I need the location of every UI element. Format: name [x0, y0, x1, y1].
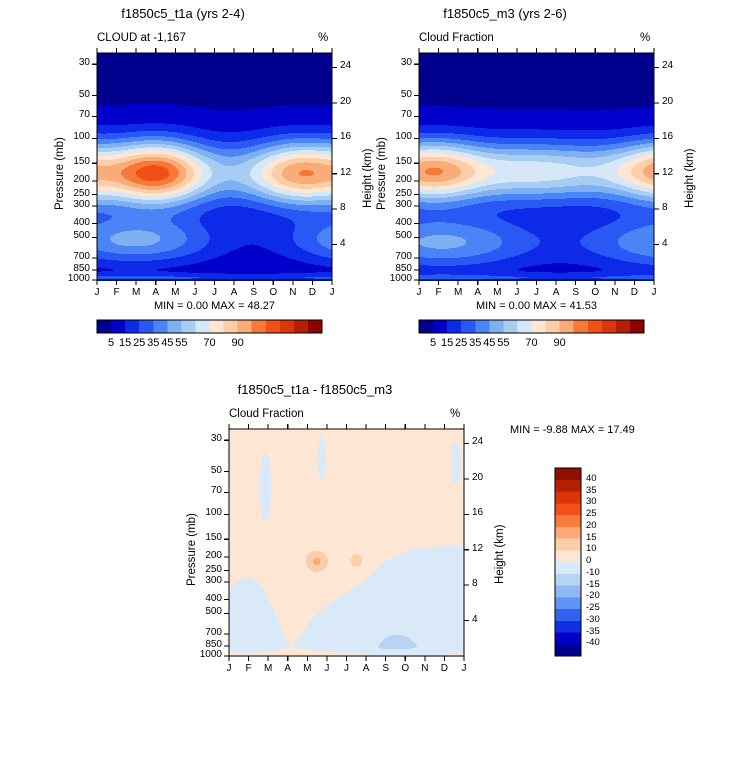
- month-tick-label: D: [434, 663, 454, 674]
- colorbar-tick-label: 55: [488, 337, 518, 349]
- diff-colorbar-tick-label: -35: [586, 626, 600, 637]
- month-tick-label: A: [356, 663, 376, 674]
- diff-colorbar-tick-label: 20: [586, 520, 597, 531]
- month-tick-label: F: [107, 287, 127, 298]
- diff-colorbar-tick-label: -25: [586, 602, 600, 613]
- month-tick-label: J: [409, 287, 429, 298]
- pressure-tick-label: 300: [367, 199, 412, 210]
- month-tick-label: J: [507, 287, 527, 298]
- pressure-tick-label: 1000: [45, 273, 90, 284]
- month-tick-label: S: [244, 287, 264, 298]
- pressure-tick-label: 100: [45, 131, 90, 142]
- height-tick-label: 24: [662, 60, 673, 71]
- colorbar-tick-label: 90: [545, 337, 575, 349]
- panel-m3: f1850c5_m3 (yrs 2-6) Cloud Fraction % Pr…: [322, 0, 688, 366]
- pressure-tick-label: 400: [177, 593, 222, 604]
- month-tick-label: M: [487, 287, 507, 298]
- month-tick-label: J: [527, 287, 547, 298]
- pressure-tick-label: 150: [367, 156, 412, 167]
- height-tick-label: 8: [472, 578, 478, 589]
- month-tick-label: M: [258, 663, 278, 674]
- pressure-tick-label: 300: [177, 575, 222, 586]
- colorbar-tick-label: 70: [517, 337, 547, 349]
- diff-colorbar-tick-label: 40: [586, 473, 597, 484]
- month-tick-label: N: [283, 287, 303, 298]
- height-tick-label: 24: [472, 436, 483, 447]
- pressure-tick-label: 300: [45, 199, 90, 210]
- month-tick-label: J: [205, 287, 225, 298]
- pressure-tick-label: 50: [367, 89, 412, 100]
- diff-colorbar-tick-label: 15: [586, 532, 597, 543]
- diff-colorbar-tick-label: 25: [586, 508, 597, 519]
- panel3-plot: [132, 376, 512, 666]
- pressure-tick-label: 1000: [177, 649, 222, 660]
- month-tick-label: A: [224, 287, 244, 298]
- month-tick-label: J: [454, 663, 474, 674]
- month-tick-label: N: [415, 663, 435, 674]
- month-tick-label: J: [317, 663, 337, 674]
- panel3-minmax: MIN = -9.88 MAX = 17.49: [510, 424, 700, 436]
- month-tick-label: J: [337, 663, 357, 674]
- pressure-tick-label: 50: [177, 465, 222, 476]
- colorbar-tick-label: 55: [166, 337, 196, 349]
- month-tick-label: A: [468, 287, 488, 298]
- panel1-minmax: MIN = 0.00 MAX = 48.27: [97, 300, 332, 312]
- diff-colorbar-tick-label: -20: [586, 590, 600, 601]
- pressure-tick-label: 700: [45, 251, 90, 262]
- pressure-tick-label: 250: [367, 188, 412, 199]
- diff-colorbar-tick-label: 35: [586, 485, 597, 496]
- height-tick-label: 8: [662, 202, 668, 213]
- pressure-tick-label: 150: [177, 532, 222, 543]
- diff-colorbar-tick-label: 30: [586, 496, 597, 507]
- month-tick-label: N: [605, 287, 625, 298]
- height-tick-label: 4: [472, 614, 478, 625]
- pressure-tick-label: 250: [177, 564, 222, 575]
- height-tick-label: 12: [472, 543, 483, 554]
- pressure-tick-label: 30: [177, 433, 222, 444]
- panel-difference: f1850c5_t1a - f1850c5_m3 Cloud Fraction …: [132, 382, 733, 702]
- height-tick-label: 16: [472, 507, 483, 518]
- height-tick-label: 20: [472, 472, 483, 483]
- month-tick-label: A: [146, 287, 166, 298]
- panel-t1a: f1850c5_t1a (yrs 2-4) CLOUD at -1,167 % …: [0, 0, 366, 366]
- pressure-tick-label: 400: [45, 217, 90, 228]
- pressure-tick-label: 30: [367, 57, 412, 68]
- pressure-tick-label: 400: [367, 217, 412, 228]
- month-tick-label: F: [429, 287, 449, 298]
- pressure-tick-label: 700: [367, 251, 412, 262]
- diff-colorbar-tick-label: 10: [586, 543, 597, 554]
- colorbar-tick-label: 90: [223, 337, 253, 349]
- month-tick-label: A: [546, 287, 566, 298]
- month-tick-label: M: [297, 663, 317, 674]
- pressure-tick-label: 500: [45, 230, 90, 241]
- pressure-tick-label: 70: [177, 485, 222, 496]
- pressure-tick-label: 200: [45, 174, 90, 185]
- pressure-tick-label: 200: [367, 174, 412, 185]
- month-tick-label: F: [239, 663, 259, 674]
- month-tick-label: M: [165, 287, 185, 298]
- month-tick-label: J: [644, 287, 664, 298]
- month-tick-label: O: [263, 287, 283, 298]
- pressure-tick-label: 1000: [367, 273, 412, 284]
- pressure-tick-label: 500: [367, 230, 412, 241]
- month-tick-label: J: [219, 663, 239, 674]
- month-tick-label: S: [566, 287, 586, 298]
- pressure-tick-label: 50: [45, 89, 90, 100]
- month-tick-label: D: [624, 287, 644, 298]
- month-tick-label: O: [395, 663, 415, 674]
- diff-colorbar-tick-label: -10: [586, 567, 600, 578]
- height-tick-label: 16: [662, 131, 673, 142]
- month-tick-label: D: [302, 287, 322, 298]
- pressure-tick-label: 200: [177, 550, 222, 561]
- diff-colorbar-tick-label: -15: [586, 579, 600, 590]
- month-tick-label: J: [87, 287, 107, 298]
- pressure-tick-label: 30: [45, 57, 90, 68]
- month-tick-label: M: [126, 287, 146, 298]
- height-tick-label: 12: [662, 167, 673, 178]
- month-tick-label: A: [278, 663, 298, 674]
- diff-colorbar-tick-label: 0: [586, 555, 591, 566]
- colorbar-tick-label: 70: [195, 337, 225, 349]
- diff-colorbar-tick-label: -40: [586, 637, 600, 648]
- month-tick-label: S: [376, 663, 396, 674]
- panel2-minmax: MIN = 0.00 MAX = 41.53: [419, 300, 654, 312]
- height-tick-label: 20: [662, 96, 673, 107]
- pressure-tick-label: 700: [177, 627, 222, 638]
- diff-colorbar-tick-label: -30: [586, 614, 600, 625]
- pressure-tick-label: 100: [177, 507, 222, 518]
- month-tick-label: J: [185, 287, 205, 298]
- pressure-tick-label: 100: [367, 131, 412, 142]
- pressure-tick-label: 250: [45, 188, 90, 199]
- month-tick-label: O: [585, 287, 605, 298]
- panel3-colorbar: [547, 464, 657, 679]
- height-tick-label: 4: [662, 238, 668, 249]
- pressure-tick-label: 70: [45, 109, 90, 120]
- pressure-tick-label: 70: [367, 109, 412, 120]
- pressure-tick-label: 500: [177, 606, 222, 617]
- pressure-tick-label: 150: [45, 156, 90, 167]
- month-tick-label: M: [448, 287, 468, 298]
